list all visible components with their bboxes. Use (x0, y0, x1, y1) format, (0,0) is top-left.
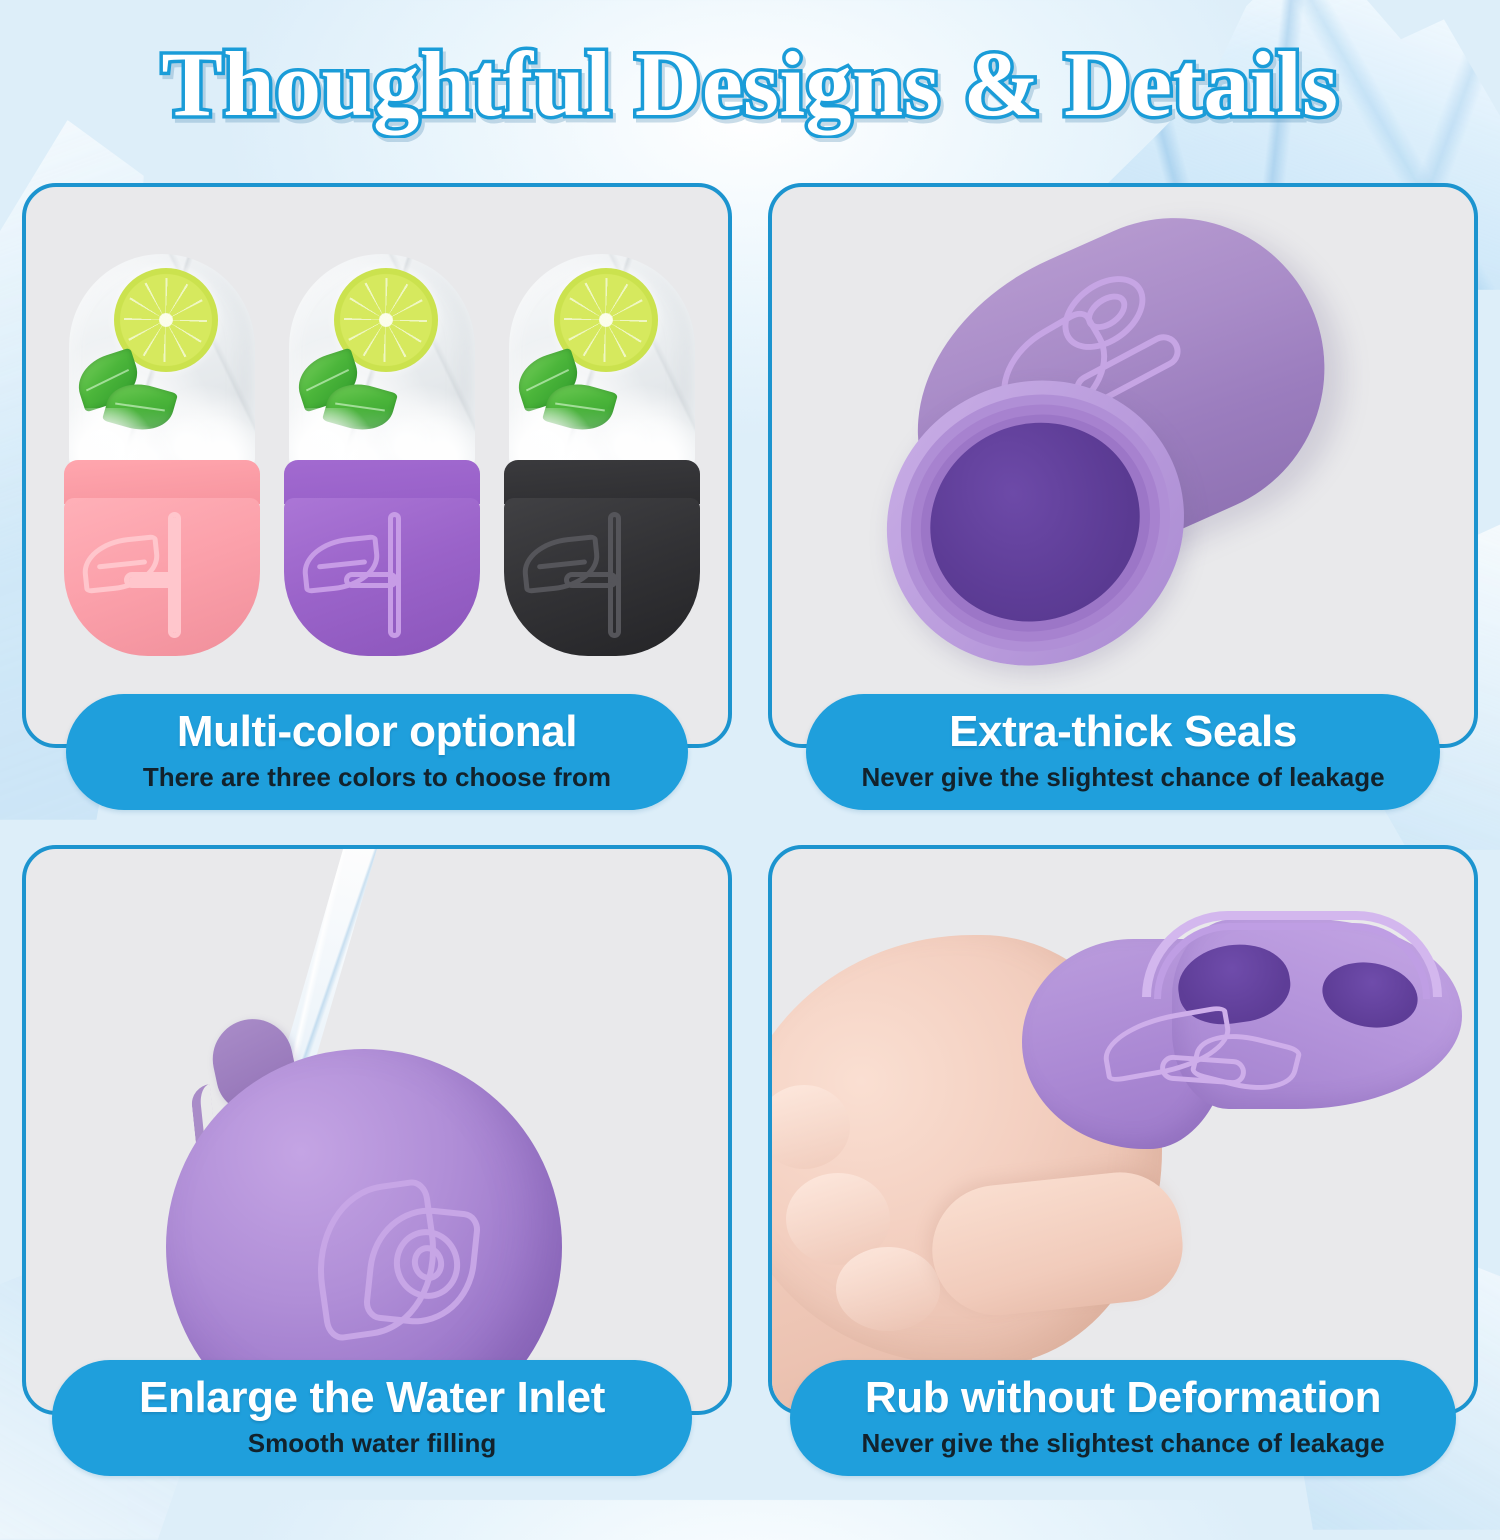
rose-stem (1159, 1054, 1247, 1086)
ice-dome-pink (69, 254, 255, 472)
ice-roller-purple (284, 254, 480, 656)
caption-subtitle: Smooth water filling (82, 1429, 662, 1459)
squeezed-silicone-cup (1022, 909, 1462, 1169)
product-photo-extra-thick-seals (772, 187, 1474, 744)
caption-banner-multi-color: Multi-color optional There are three col… (66, 694, 688, 810)
page-title-area: Thoughtful Designs & Details (0, 36, 1500, 133)
rose-emboss-icon (1102, 1005, 1312, 1115)
feature-panel-rub-without-deformation (768, 845, 1478, 1415)
caption-subtitle: There are three colors to choose from (96, 763, 658, 793)
caption-title: Rub without Deformation (820, 1374, 1426, 1422)
knuckle-1 (772, 1085, 850, 1169)
water-filling-scene (26, 849, 728, 1411)
silicone-sleeve-black (504, 460, 700, 656)
silicone-sleeve-purple (284, 460, 480, 656)
silicone-sleeve-pink (64, 460, 260, 656)
feature-panel-multi-color (22, 183, 732, 748)
product-photo-multi-color (26, 187, 728, 744)
ice-dome-black (509, 254, 695, 472)
rose-emboss-icon (316, 1181, 506, 1361)
cup-rim-inner (1154, 923, 1430, 999)
ice-roller-black (504, 254, 700, 656)
page-title: Thoughtful Designs & Details (0, 36, 1500, 133)
tipped-silicone-cup (795, 187, 1450, 737)
rose-emboss-icon (80, 512, 244, 644)
rose-emboss-icon (300, 512, 464, 644)
caption-banner-rub-without-deformation: Rub without Deformation Never give the s… (790, 1360, 1456, 1476)
ice-roller-lineup (26, 187, 728, 744)
hand-squeeze-scene (772, 849, 1474, 1411)
caption-title: Enlarge the Water Inlet (82, 1374, 662, 1422)
emboss-branch (344, 572, 398, 588)
caption-subtitle: Never give the slightest chance of leaka… (820, 1429, 1426, 1459)
product-photo-rub-without-deformation (772, 849, 1474, 1411)
emboss-branch (124, 572, 178, 588)
purple-dome-body (166, 1049, 562, 1411)
caption-subtitle: Never give the slightest chance of leaka… (836, 763, 1410, 793)
caption-banner-extra-thick-seals: Extra-thick Seals Never give the slighte… (806, 694, 1440, 810)
feature-panel-extra-thick-seals (768, 183, 1478, 748)
emboss-branch (564, 572, 618, 588)
knuckle-3 (836, 1247, 940, 1331)
caption-title: Multi-color optional (96, 708, 658, 756)
caption-banner-water-inlet: Enlarge the Water Inlet Smooth water fil… (52, 1360, 692, 1476)
caption-title: Extra-thick Seals (836, 708, 1410, 756)
ice-roller-pink (64, 254, 260, 656)
rose-emboss-icon (520, 512, 684, 644)
ice-dome-purple (289, 254, 475, 472)
feature-panel-water-inlet (22, 845, 732, 1415)
product-photo-water-inlet (26, 849, 728, 1411)
